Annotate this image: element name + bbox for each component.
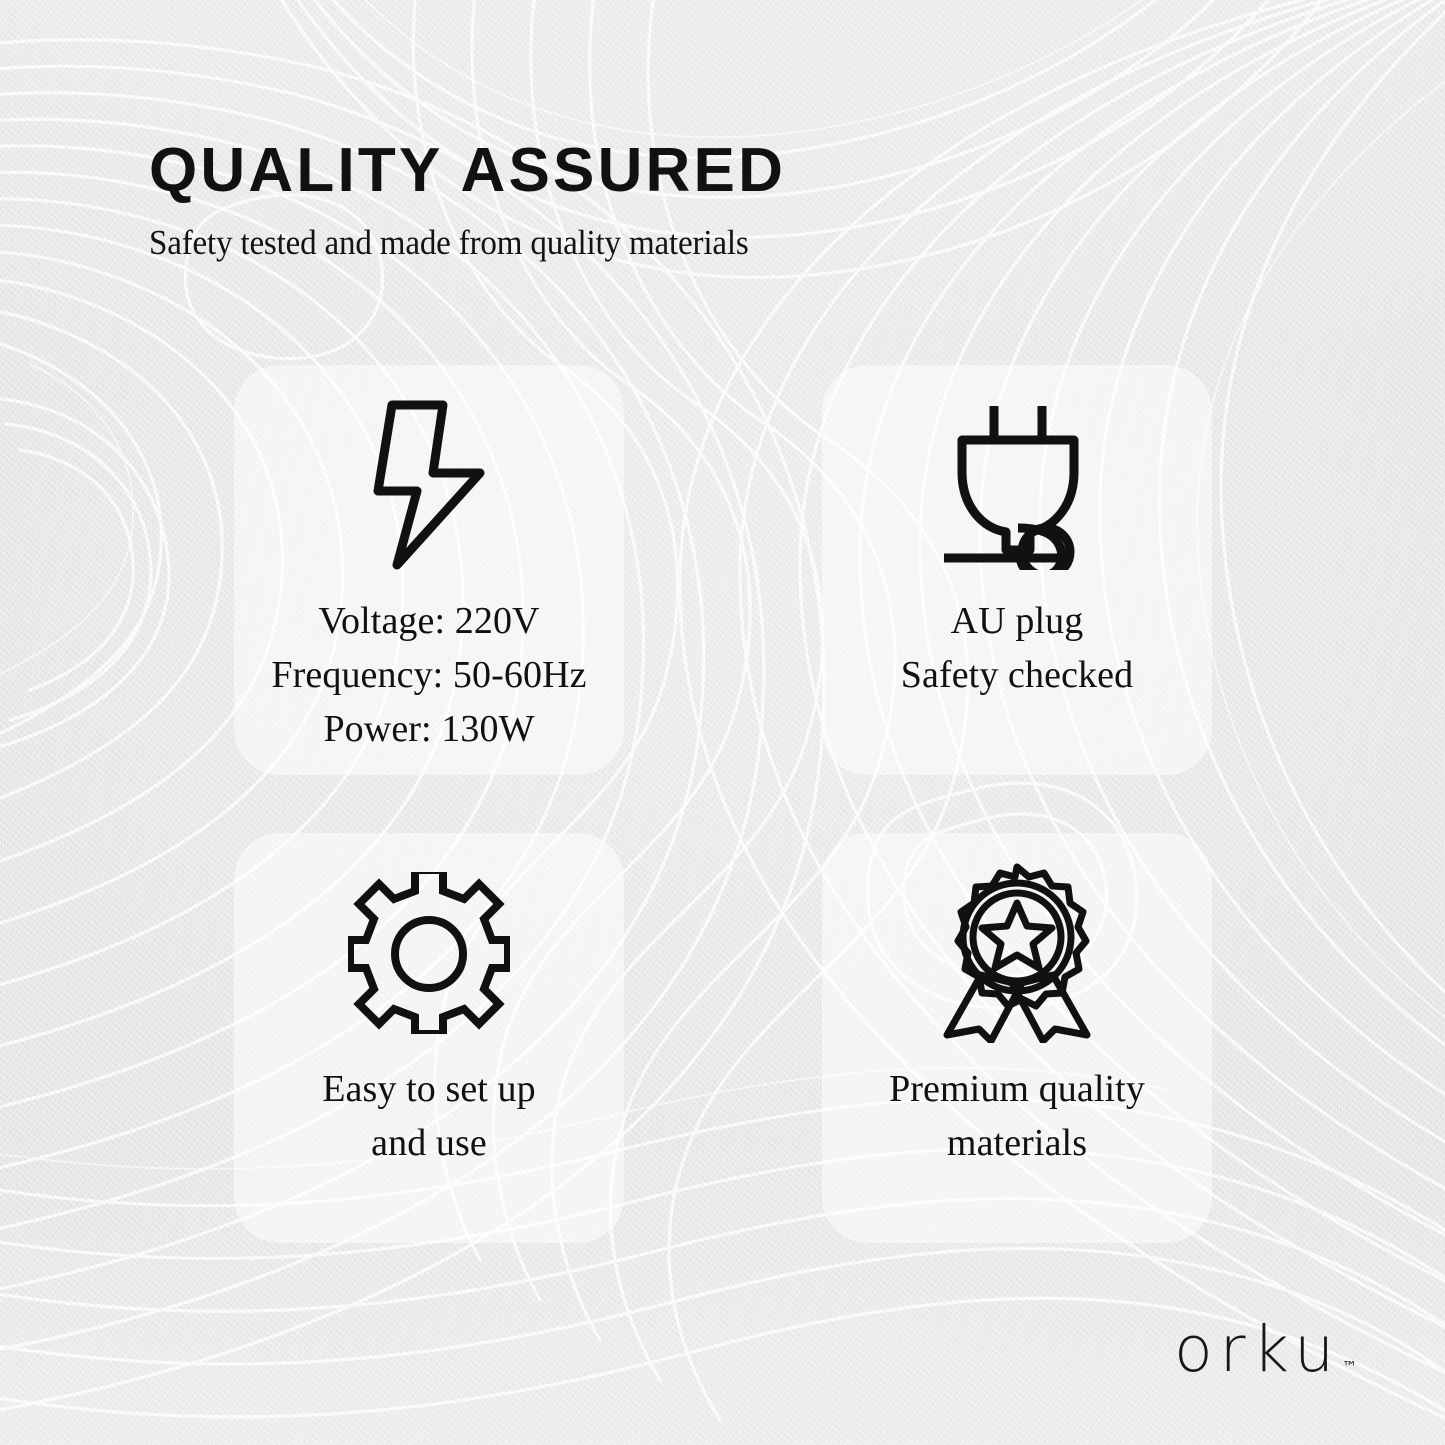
feature-line: AU plug bbox=[901, 595, 1133, 649]
feature-line: Frequency: 50-60Hz bbox=[271, 649, 586, 703]
feature-line: Easy to set up bbox=[322, 1063, 536, 1117]
feature-line: materials bbox=[889, 1117, 1145, 1171]
feature-card-easy-setup: Easy to set up and use bbox=[234, 833, 624, 1243]
trademark-symbol: ™ bbox=[1342, 1360, 1357, 1381]
feature-card-text: Easy to set up and use bbox=[322, 1063, 536, 1171]
product-feature-graphic: QUALITY ASSURED Safety tested and made f… bbox=[0, 0, 1445, 1445]
feature-line: Safety checked bbox=[901, 649, 1133, 703]
award-ribbon-icon bbox=[937, 863, 1097, 1043]
page-subtitle: Safety tested and made from quality mate… bbox=[149, 202, 751, 260]
brand-logo: orku ™ bbox=[1174, 1318, 1357, 1381]
feature-card-grid: Voltage: 220V Frequency: 50-60Hz Power: … bbox=[234, 365, 1212, 1243]
feature-card-text: AU plug Safety checked bbox=[901, 595, 1133, 703]
feature-card-premium-quality: Premium quality materials bbox=[822, 833, 1212, 1243]
page-title: QUALITY ASSURED bbox=[149, 140, 786, 202]
header: QUALITY ASSURED Safety tested and made f… bbox=[149, 140, 786, 260]
gear-icon bbox=[348, 863, 510, 1043]
feature-line: and use bbox=[322, 1117, 536, 1171]
lightning-bolt-icon bbox=[373, 395, 485, 575]
feature-line: Power: 130W bbox=[271, 703, 586, 757]
feature-card-text: Premium quality materials bbox=[889, 1063, 1145, 1171]
feature-line: Premium quality bbox=[889, 1063, 1145, 1117]
feature-card-text: Voltage: 220V Frequency: 50-60Hz Power: … bbox=[271, 595, 586, 757]
feature-line: Voltage: 220V bbox=[271, 595, 586, 649]
power-plug-icon bbox=[942, 395, 1092, 575]
feature-card-au-plug: AU plug Safety checked bbox=[822, 365, 1212, 775]
feature-card-electrical-specs: Voltage: 220V Frequency: 50-60Hz Power: … bbox=[234, 365, 624, 775]
brand-wordmark: orku bbox=[1174, 1318, 1341, 1381]
